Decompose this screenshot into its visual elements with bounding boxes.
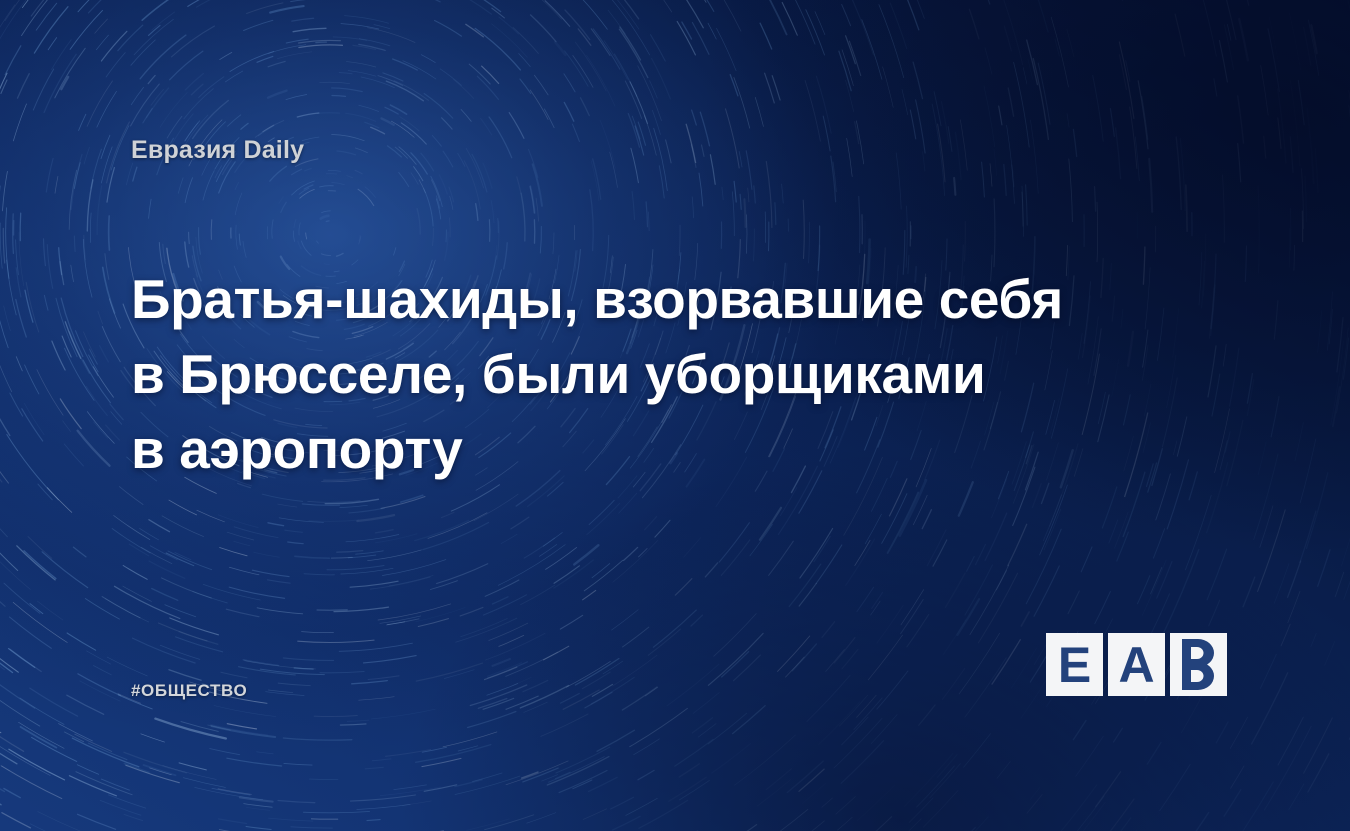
logo-tile-a: A	[1108, 633, 1165, 696]
logo-letter-a: A	[1118, 640, 1154, 690]
masthead-title: Евразия Daily	[131, 136, 304, 165]
split-d-icon	[1170, 633, 1227, 696]
headline-line-3: в аэропорту	[131, 412, 1091, 487]
category-tag[interactable]: #ОБЩЕСТВО	[131, 681, 247, 701]
news-card: Евразия Daily Братья-шахиды, взорвавшие …	[0, 0, 1350, 831]
logo-tile-e: E	[1046, 633, 1103, 696]
logo-letter-e: E	[1058, 640, 1091, 690]
page-title: Братья-шахиды, взорвавшие себя в Брюссел…	[131, 262, 1091, 487]
headline-line-1: Братья-шахиды, взорвавшие себя	[131, 262, 1091, 337]
eadaily-logo[interactable]: E A	[1046, 633, 1227, 696]
headline-line-2: в Брюсселе, были уборщиками	[131, 337, 1091, 412]
logo-tile-d	[1170, 633, 1227, 696]
